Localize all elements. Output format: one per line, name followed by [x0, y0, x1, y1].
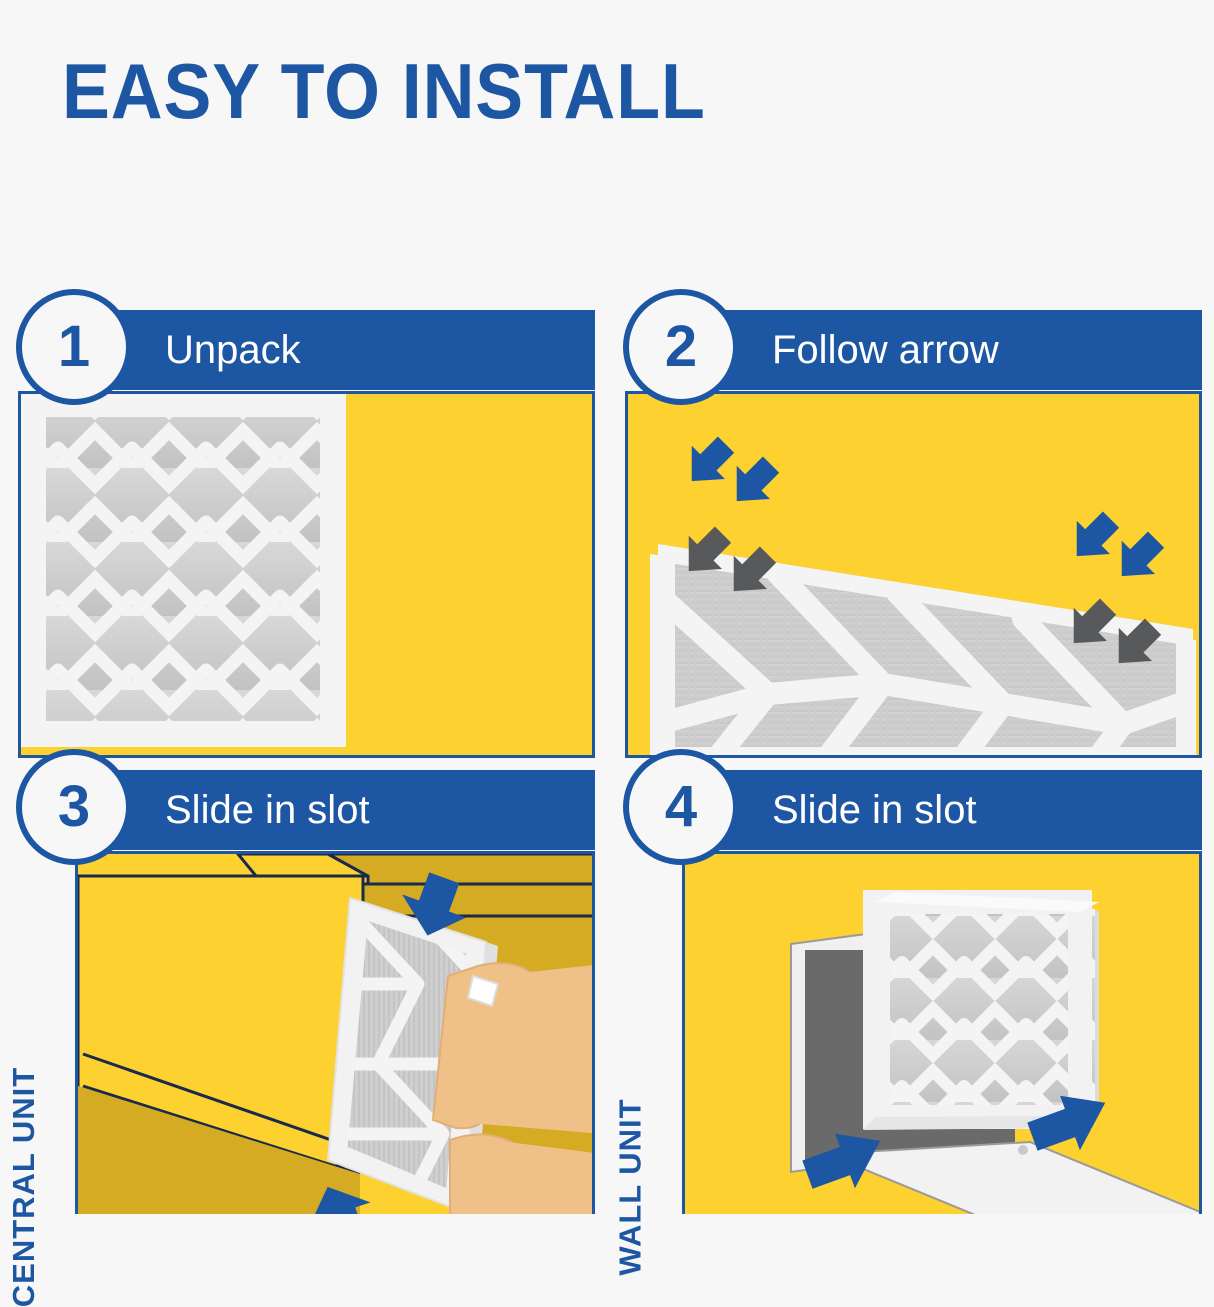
step-3-side-caption-text: CENTRAL UNIT — [6, 1067, 42, 1307]
central-unit-install-illustration — [78, 854, 595, 1214]
step-1-header: Unpack — [60, 310, 595, 390]
step-2-header: Follow arrow — [667, 310, 1202, 390]
hand-upper — [433, 963, 595, 1134]
blue-airflow-arrow-group-right — [1059, 503, 1173, 592]
step-4-side-caption-text: WALL UNIT — [613, 1098, 649, 1275]
step-4-number-badge: 4 — [623, 749, 739, 865]
step-4-side-caption: WALL UNIT — [601, 865, 661, 1205]
step-3-label: Slide in slot — [165, 788, 370, 833]
step-1-label: Unpack — [165, 328, 301, 373]
step-3-number: 3 — [58, 778, 90, 836]
step-3-header: Slide in slot — [60, 770, 595, 850]
page-title: EASY TO INSTALL — [62, 52, 706, 130]
step-2-illustration-area — [625, 391, 1202, 758]
step-4-number: 4 — [665, 778, 697, 836]
step-4-illustration-area — [682, 851, 1202, 1214]
wall-unit-install-illustration — [685, 854, 1202, 1214]
step-2-number: 2 — [665, 318, 697, 376]
step-3-number-badge: 3 — [16, 749, 132, 865]
grille-door — [827, 1142, 1202, 1214]
step-2-label: Follow arrow — [772, 328, 999, 373]
air-filter-airflow-illustration — [628, 394, 1202, 758]
step-panel-4: WALL UNIT — [607, 755, 1214, 1214]
step-1-number: 1 — [58, 318, 90, 376]
blue-airflow-arrow-group-left — [674, 428, 788, 517]
step-1-number-badge: 1 — [16, 289, 132, 405]
step-3-side-caption: CENTRAL UNIT — [0, 865, 54, 1205]
step-panel-2: Follow arrow 2 — [607, 295, 1214, 755]
step-4-header: Slide in slot — [667, 770, 1202, 850]
step-panel-1: Unpack 1 — [0, 295, 607, 755]
air-filter-front-illustration — [21, 394, 595, 758]
step-4-label: Slide in slot — [772, 788, 977, 833]
filter-in-wall-slot — [863, 892, 1099, 1130]
step-1-illustration-area — [18, 391, 595, 758]
steps-grid: Unpack 1 — [0, 295, 1214, 1214]
step-3-illustration-area — [75, 851, 595, 1214]
step-panel-3: CENTRAL UNIT — [0, 755, 607, 1214]
step-2-number-badge: 2 — [623, 289, 739, 405]
